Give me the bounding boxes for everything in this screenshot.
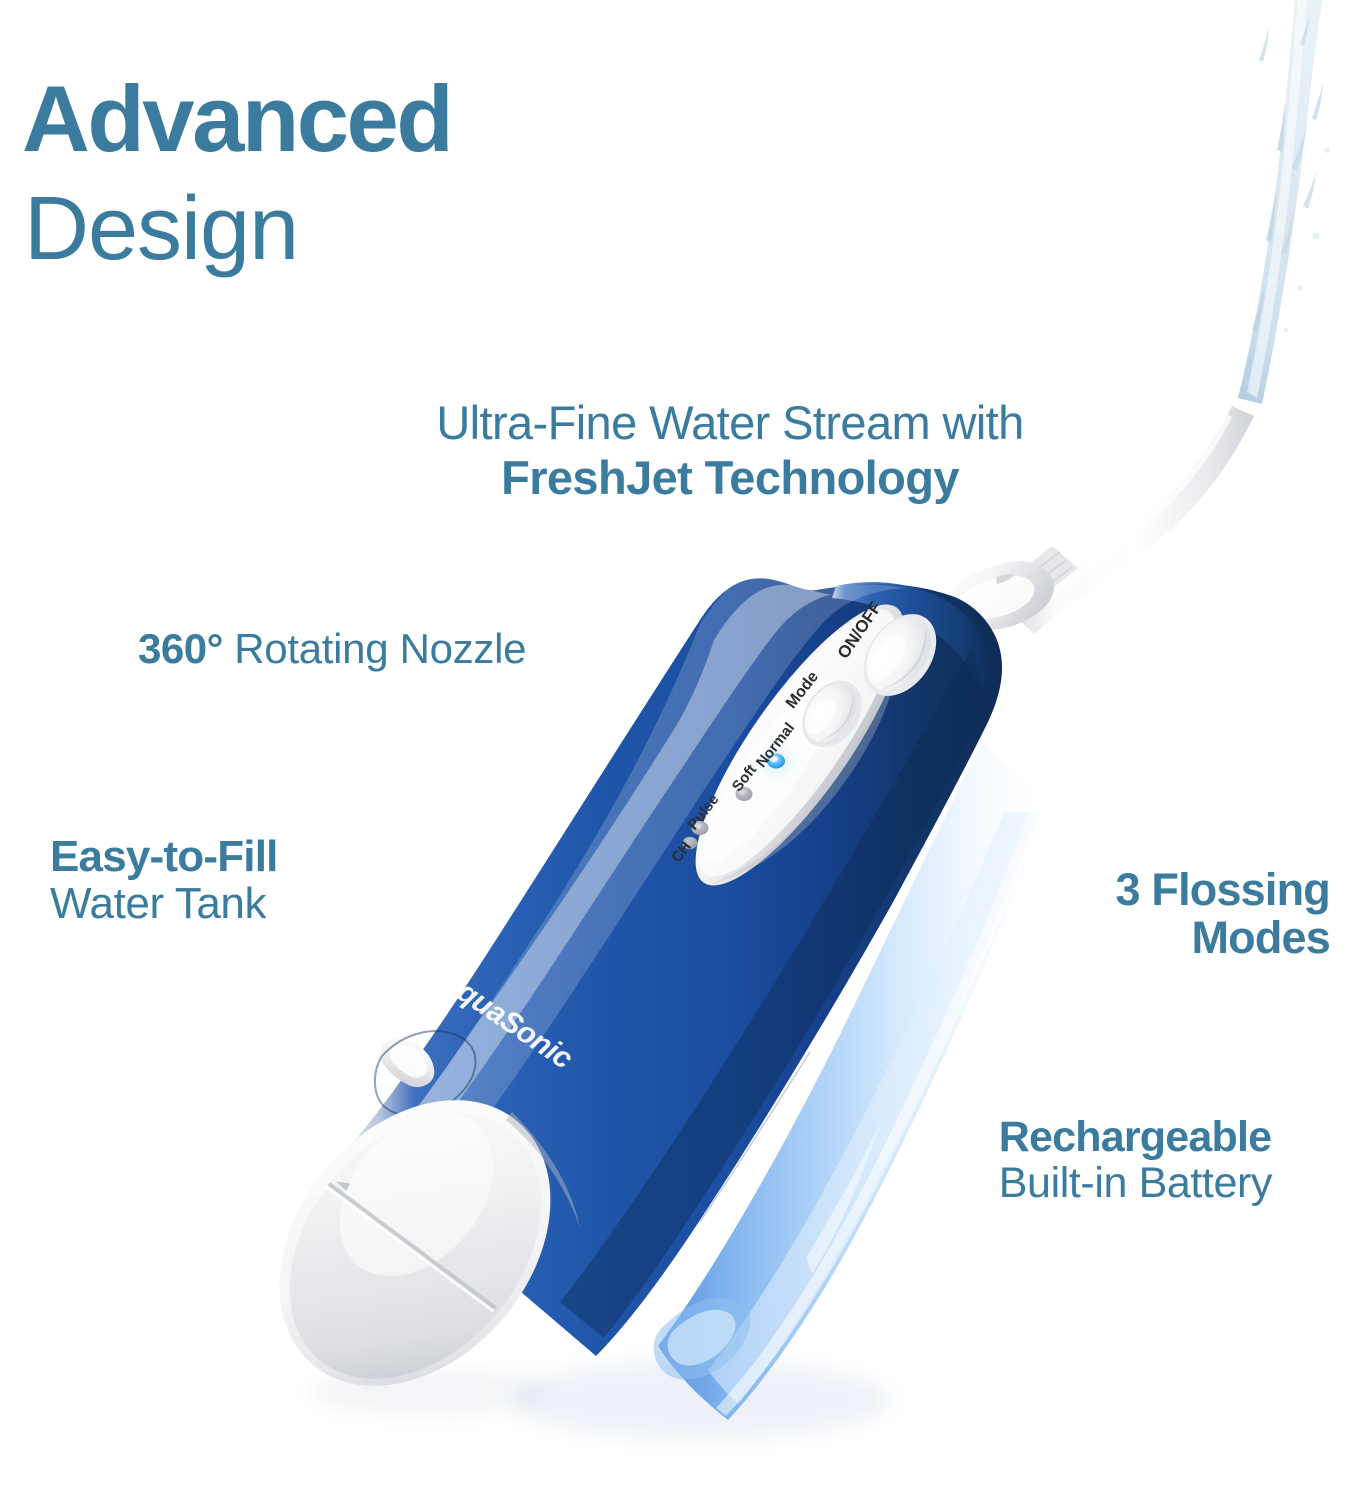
subtitle-line2: FreshJet Technology	[280, 451, 1180, 506]
feature-nozzle-value: 360°	[138, 625, 223, 672]
page-title-line1: Advanced	[22, 72, 451, 166]
subtitle-line1: Ultra-Fine Water Stream with	[280, 396, 1180, 451]
page-title-line2: Design	[24, 184, 298, 274]
feature-battery-line1: Rechargeable	[999, 1114, 1272, 1160]
feature-label-flossing-modes: 3 Flossing Modes	[1115, 866, 1330, 961]
feature-tank-line1: Easy-to-Fill	[50, 834, 278, 881]
water-stream	[1238, 0, 1330, 404]
feature-label-battery: Rechargeable Built-in Battery	[999, 1114, 1272, 1206]
feature-modes-line2: Modes	[1115, 914, 1330, 962]
feature-tank-line2: Water Tank	[50, 881, 278, 928]
subtitle-block: Ultra-Fine Water Stream with FreshJet Te…	[280, 396, 1180, 505]
feature-modes-line1: 3 Flossing	[1115, 866, 1330, 914]
feature-nozzle-text: Rotating Nozzle	[223, 625, 526, 672]
feature-battery-line2: Built-in Battery	[999, 1160, 1272, 1206]
feature-label-water-tank: Easy-to-Fill Water Tank	[50, 834, 278, 927]
product-infographic: AquaSonic ON/OFF	[0, 0, 1346, 1500]
feature-label-nozzle: 360° Rotating Nozzle	[138, 628, 526, 670]
